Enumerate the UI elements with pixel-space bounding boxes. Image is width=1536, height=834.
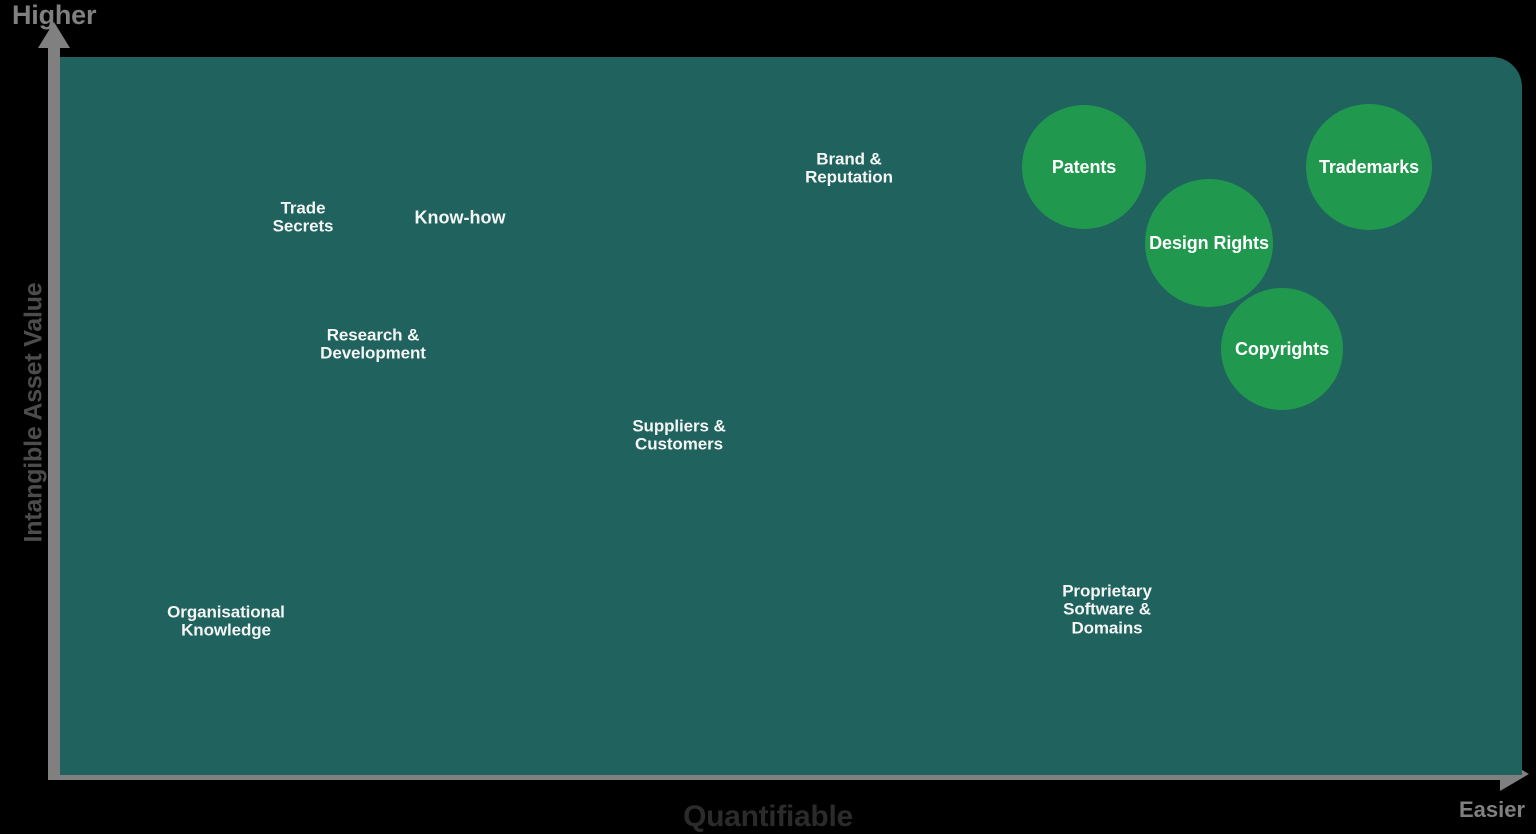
bubble-design-rights[interactable]: Design Rights: [1145, 179, 1273, 307]
plot-label-research-development: Research & Development: [320, 327, 426, 364]
y-axis-line: [48, 42, 60, 780]
plot-area: [60, 57, 1522, 775]
plot-label-organisational-knowledge: Organisational Knowledge: [167, 604, 285, 641]
bubble-label-design-rights: Design Rights: [1149, 233, 1269, 254]
plot-label-brand-reputation: Brand & Reputation: [805, 151, 893, 188]
plot-label-suppliers-customers: Suppliers & Customers: [632, 418, 725, 455]
bubble-copyrights[interactable]: Copyrights: [1221, 288, 1343, 410]
plot-label-know-how: Know-how: [415, 208, 506, 227]
bubble-label-patents: Patents: [1052, 157, 1116, 178]
bubble-trademarks[interactable]: Trademarks: [1306, 104, 1432, 230]
plot-label-trade-secrets: Trade Secrets: [273, 200, 334, 237]
chart-canvas: Higher Intangible Asset Value Quantifiab…: [0, 0, 1536, 834]
y-axis-title: Intangible Asset Value: [20, 213, 49, 613]
y-axis-end-label: Higher: [12, 0, 96, 31]
plot-label-proprietary-software: Proprietary Software & Domains: [1062, 582, 1152, 637]
x-axis-title: Quantifiable: [0, 800, 1536, 834]
bubble-patents[interactable]: Patents: [1022, 105, 1146, 229]
bubble-label-copyrights: Copyrights: [1235, 339, 1329, 360]
bubble-label-trademarks: Trademarks: [1319, 157, 1419, 178]
x-axis-end-label: Easier: [1459, 797, 1525, 823]
